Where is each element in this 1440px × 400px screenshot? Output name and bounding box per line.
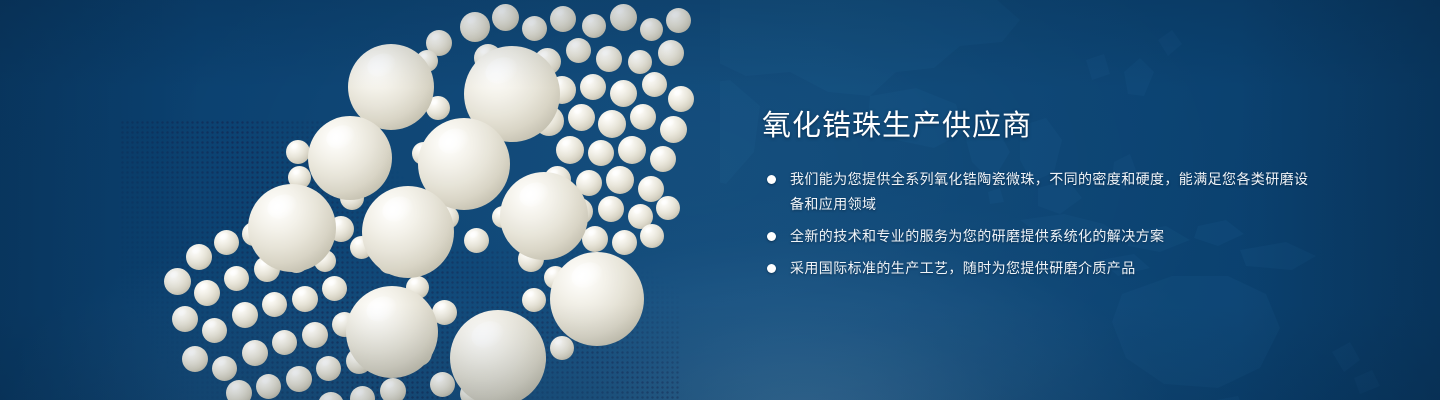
bullet-text: 采用国际标准的生产工艺，随时为您提供研磨介质产品 [790,260,1136,276]
banner-bullet-list: 我们能为您提供全系列氧化锆陶瓷微珠，不同的密度和硬度，能满足您各类研磨设备和应用… [762,167,1322,281]
banner-content: 氧化锆珠生产供应商 我们能为您提供全系列氧化锆陶瓷微珠，不同的密度和硬度，能满足… [762,108,1322,281]
bullet-text: 我们能为您提供全系列氧化锆陶瓷微珠，不同的密度和硬度，能满足您各类研磨设备和应用… [790,171,1308,212]
list-item: 采用国际标准的生产工艺，随时为您提供研磨介质产品 [762,256,1322,281]
hero-banner: 氧化锆珠生产供应商 我们能为您提供全系列氧化锆陶瓷微珠，不同的密度和硬度，能满足… [0,0,1440,400]
bullet-text: 全新的技术和专业的服务为您的研磨提供系统化的解决方案 [790,228,1164,244]
list-item: 我们能为您提供全系列氧化锆陶瓷微珠，不同的密度和硬度，能满足您各类研磨设备和应用… [762,167,1322,217]
bullet-dot-icon [767,232,776,241]
bullet-dot-icon [767,264,776,273]
list-item: 全新的技术和专业的服务为您的研磨提供系统化的解决方案 [762,224,1322,249]
bullet-dot-icon [767,175,776,184]
banner-headline: 氧化锆珠生产供应商 [762,108,1322,144]
